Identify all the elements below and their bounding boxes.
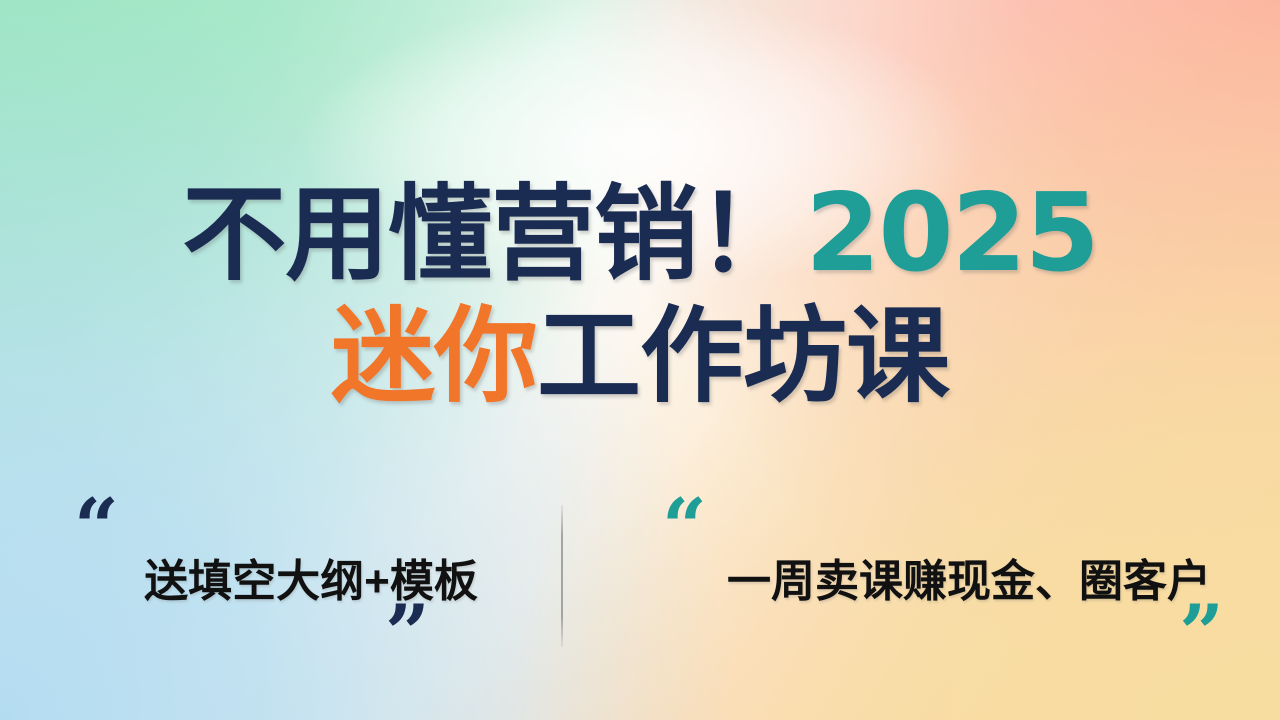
headline-segment-exclamation: ！ bbox=[697, 177, 805, 293]
caption-right-text: 一周卖课赚现金、圈客户 bbox=[727, 545, 1211, 609]
caption-left-text: 送填空大纲+模板 bbox=[144, 545, 478, 609]
headline: 不用懂营销！2025 迷你工作坊课 bbox=[0, 168, 1280, 421]
caption-row: “ 送填空大纲+模板 ” “ 一周卖课赚现金、圈客户 ” bbox=[0, 487, 1280, 667]
headline-segment-year: 2025 bbox=[805, 171, 1098, 296]
quote-open-icon: “ bbox=[662, 489, 707, 567]
headline-segment-navy-2: 工作坊课 bbox=[537, 299, 949, 415]
caption-card-right: “ 一周卖课赚现金、圈客户 ” bbox=[640, 487, 1280, 667]
headline-segment-orange: 迷你 bbox=[331, 299, 537, 415]
headline-segment-navy: 不用懂营销 bbox=[182, 177, 697, 293]
caption-card-left: “ 送填空大纲+模板 ” bbox=[0, 487, 640, 667]
headline-line-1: 不用懂营销！2025 bbox=[0, 168, 1280, 300]
headline-line-2: 迷你工作坊课 bbox=[0, 294, 1280, 421]
quote-open-icon: “ bbox=[74, 489, 119, 567]
promo-poster: 不用懂营销！2025 迷你工作坊课 “ 送填空大纲+模板 ” “ 一周卖课赚现金… bbox=[0, 0, 1280, 720]
caption-divider bbox=[561, 505, 563, 647]
